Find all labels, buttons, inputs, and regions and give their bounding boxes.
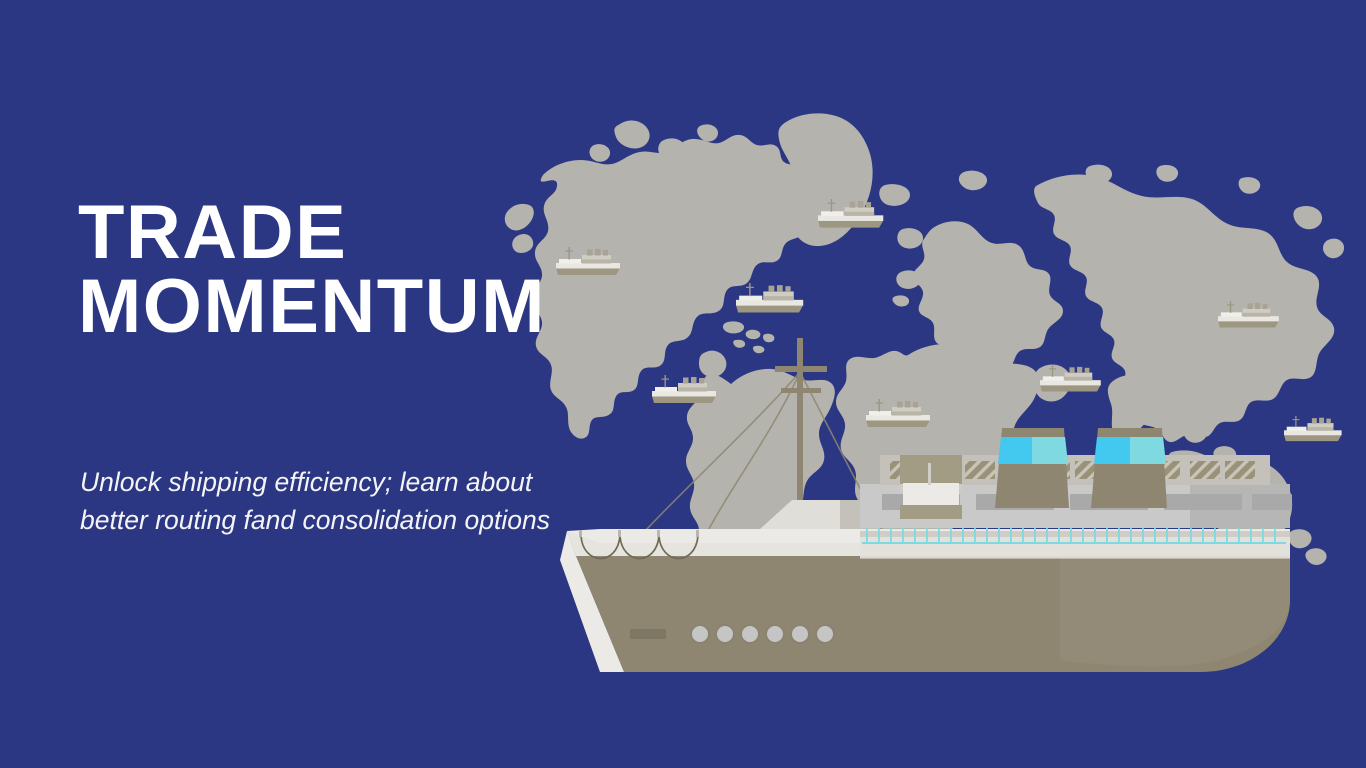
- funnel-forward: [995, 428, 1069, 508]
- deck-seam: [860, 556, 1290, 559]
- page-title: TRADE MOMENTUM: [78, 196, 598, 345]
- hull-marking: [630, 629, 666, 639]
- promenade-base: [860, 536, 1290, 558]
- presentation-slide: TRADE MOMENTUM Unlock shipping efficienc…: [0, 0, 1366, 768]
- bridge-lower: [900, 505, 962, 519]
- text-block: TRADE MOMENTUM Unlock shipping efficienc…: [78, 196, 598, 345]
- wheelhouse: [903, 483, 959, 507]
- slide-subtitle: Unlock shipping efficiency; learn about …: [80, 464, 580, 539]
- illustration-canvas: [0, 0, 1366, 768]
- promenade-lip: [860, 531, 1290, 537]
- funnel-aft: [1091, 428, 1167, 508]
- radio-mast: [928, 463, 931, 485]
